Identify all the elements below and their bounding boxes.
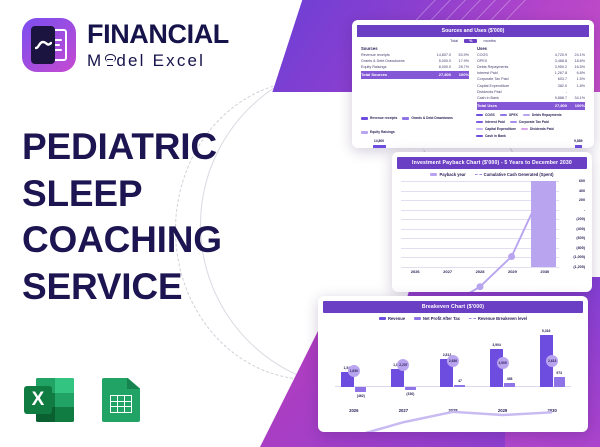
sources-and-uses-card[interactable]: Sources and Uses ($'000) Total % months … (352, 20, 594, 148)
legend-item: Cumulative Cash Generated (Spent) (475, 172, 554, 177)
table-row: Cash in Bank9,888.734.1% (477, 95, 585, 101)
x-tick-label: 2026 (329, 408, 379, 413)
net-profit-bar: (330) (405, 387, 416, 390)
chart-group: 2,813472,636 (428, 327, 478, 405)
bar-value-label: (462) (357, 394, 365, 398)
net-profit-bar: 973 (554, 377, 565, 387)
chart-group: 5,3169732,613 (527, 327, 577, 405)
legend-dashed-marker (475, 173, 482, 176)
legend-label: Cash in Bank (485, 134, 506, 138)
uses-total-value: 27,800 (541, 103, 567, 109)
sources-total-pct: 100% (451, 72, 469, 78)
headline-line-3: COACHING (22, 217, 222, 264)
legend-swatch (361, 117, 368, 120)
y-tick-label: (200) (576, 217, 585, 221)
legend-swatch (476, 114, 483, 117)
bar: 14,800 (373, 145, 386, 148)
headline-line-1: PEDIATRIC (22, 124, 222, 171)
net-profit-bar: 458 (504, 383, 515, 387)
legend-swatch (414, 317, 421, 320)
bar-value-label: (330) (406, 392, 414, 396)
chart-card-icon (31, 26, 55, 64)
chart-group: 1,540(462)1,630 (329, 327, 379, 405)
legend-item: Payback year (430, 172, 465, 177)
sources-column: Sources Revenue receipts14,807.053.9%Gra… (361, 46, 469, 110)
legend-item: Dividends Paid (521, 127, 554, 131)
legend-swatch (430, 173, 437, 176)
sources-header: Sources (361, 46, 469, 51)
legend-swatch (476, 121, 483, 124)
revenue-bar: 1,848 (391, 369, 404, 387)
legend-label: Revenue receipts (370, 116, 397, 120)
x-tick-label: 2029 (478, 408, 528, 413)
supported-apps: X (24, 375, 146, 425)
legend-item: Debts Repayments (523, 113, 562, 117)
sources-total-value: 27,800 (425, 72, 451, 78)
uses-header: Uses (477, 46, 585, 51)
headline-line-2: SLEEP (22, 171, 222, 218)
row-value: 9,888.7 (541, 95, 567, 101)
breakeven-chart-legend: RevenueNet Profit After TaxRevenue Break… (323, 313, 583, 323)
legend-label: Equity Raisings (370, 130, 395, 134)
sources-uses-title: Sources and Uses ($'000) (357, 25, 589, 37)
y-tick-label: (600) (576, 236, 585, 240)
breakeven-node: 1,630 (348, 365, 360, 377)
legend-label: OPEX (509, 113, 518, 117)
row-value: 8,000.0 (425, 64, 451, 70)
legend-item: Net Profit After Tax (414, 316, 460, 321)
breakeven-x-axis-labels: 20262027202820292030 (329, 408, 577, 413)
legend-swatch (500, 114, 507, 117)
payback-chart-title: Investment Payback Chart ($'000) - 5 Yea… (397, 157, 587, 169)
breakeven-chart-card[interactable]: Breakeven Chart ($'000) RevenueNet Profi… (318, 296, 588, 432)
google-sheets-icon (96, 375, 146, 425)
bar-value-label: 973 (556, 371, 562, 375)
net-profit-bar: 47 (454, 385, 465, 387)
legend-swatch (379, 317, 386, 320)
sources-total-label: Total Sources (361, 72, 425, 78)
legend-label: Dividends Paid (530, 127, 554, 131)
legend-label: COGS (485, 113, 495, 117)
legend-item: Interest Paid (476, 120, 505, 124)
legend-item: OPEX (500, 113, 518, 117)
x-tick-label: 2028 (428, 408, 478, 413)
row-label: Cash in Bank (477, 95, 541, 101)
x-tick-label: 2030 (527, 408, 577, 413)
y-tick-label: 200 (579, 198, 585, 202)
brand-subtitle: M del Excel (87, 52, 229, 69)
brand-subtitle-part1: M (87, 52, 103, 69)
sources-bar-chart: 14,8005,0008,000 (361, 140, 469, 148)
legend-swatch (476, 128, 483, 131)
sources-total-row: Total Sources 27,800 100% (361, 71, 469, 79)
legend-item: Revenue receipts (361, 113, 397, 124)
breakeven-node: 2,636 (447, 355, 459, 367)
bar-value-label: 3,904 (492, 343, 501, 347)
y-tick-label: 600 (579, 179, 585, 183)
investment-payback-card[interactable]: Investment Payback Chart ($'000) - 5 Yea… (392, 152, 592, 292)
cumulative-cash-line (401, 181, 559, 292)
legend-label: Interest Paid (485, 120, 505, 124)
y-tick-label: (1,200) (573, 265, 585, 269)
uses-chart-legend: COGSOPEXDebts RepaymentsInterest PaidCor… (476, 113, 585, 138)
bar-value-label: 9,889 (574, 139, 583, 143)
headline-line-4: SERVICE (22, 264, 222, 311)
legend-label: Revenue Breakeven level (478, 316, 527, 321)
sources-chart-legend: Revenue receiptsGrants & Debt DrawdownsE… (361, 113, 470, 138)
legend-item: Equity Raisings (361, 127, 395, 138)
sources-uses-subheader: Total % months (357, 37, 589, 45)
financial-model-logo-icon (22, 18, 76, 72)
row-pct: 28.7% (451, 64, 469, 70)
excel-letter: X (24, 386, 52, 414)
bar: 9,889 (575, 145, 582, 148)
legend-item: Cash in Bank (476, 134, 506, 138)
payback-chart-legend: Payback yearCumulative Cash Generated (S… (397, 169, 587, 179)
breakeven-chart-title: Breakeven Chart ($'000) (323, 301, 583, 313)
uses-column: Uses COGS4,720.924.1%OPEX3,468.818.6%Deb… (477, 46, 585, 110)
brand-subtitle-part2: del Excel (116, 52, 205, 69)
legend-swatch (510, 121, 517, 124)
legend-label: Payback year (439, 172, 465, 177)
legend-swatch (523, 114, 530, 117)
lightbulb-icon (104, 54, 115, 67)
x-tick-label: 2027 (379, 408, 429, 413)
breakeven-plot-area: 1,540(462)1,6301,848(330)2,2072,813472,6… (329, 327, 577, 405)
table-row: Equity Raisings8,000.028.7% (361, 64, 469, 70)
legend-label: Grants & Debt Drawdowns (411, 116, 453, 120)
brand-title: FINANCIAL (87, 21, 229, 48)
payback-y-axis-labels: 600400200-(200)(400)(600)(800)(1,000)(1,… (561, 181, 585, 267)
bar-value-label: 458 (507, 377, 513, 381)
legend-label: Revenue (388, 316, 405, 321)
breakeven-node: 2,505 (497, 357, 509, 369)
payback-plot-area: 600400200-(200)(400)(600)(800)(1,000)(1,… (399, 181, 585, 267)
net-profit-bar: (462) (355, 387, 366, 392)
legend-item: Corporate Tax Paid (510, 120, 549, 124)
y-tick-label: 400 (579, 189, 585, 193)
legend-swatch (476, 135, 483, 138)
legend-item: COGS (476, 113, 495, 117)
legend-item: Grants & Debt Drawdowns (402, 113, 453, 124)
uses-total-label: Total Uses (477, 103, 541, 109)
legend-label: Capital Expenditure (485, 127, 516, 131)
bar-value-label: 47 (458, 379, 462, 383)
breakeven-node: 2,207 (397, 359, 409, 371)
microsoft-excel-icon: X (24, 375, 74, 425)
subheader-months-label: months (483, 39, 495, 43)
legend-item: Revenue (379, 316, 405, 321)
bar-value-label: 5,316 (542, 329, 551, 333)
subheader-pct-pill: % (464, 39, 477, 43)
legend-swatch (402, 117, 409, 120)
legend-label: Net Profit After Tax (423, 316, 460, 321)
subheader-total-label: Total (450, 39, 458, 43)
chart-group: 1,848(330)2,207 (379, 327, 429, 405)
uses-bar-chart: 4,7203,4603,9501,260603382-9,889 (477, 140, 585, 148)
row-pct: 34.1% (567, 95, 585, 101)
brand-lockup: FINANCIAL M del Excel (22, 18, 229, 72)
legend-label: Cumulative Cash Generated (Spent) (484, 172, 554, 177)
uses-total-pct: 100% (567, 103, 585, 109)
row-label: Equity Raisings (361, 64, 425, 70)
bar-value-label: 14,800 (374, 139, 384, 143)
breakeven-node: 2,613 (546, 355, 558, 367)
chart-group: 3,9044582,505 (478, 327, 528, 405)
page-title: PEDIATRIC SLEEP COACHING SERVICE (22, 124, 222, 310)
legend-dashed-marker (469, 317, 476, 320)
y-tick-label: (1,000) (573, 255, 585, 259)
uses-total-row: Total Uses 27,800 100% (477, 102, 585, 110)
legend-swatch (361, 131, 368, 134)
legend-item: Revenue Breakeven level (469, 316, 527, 321)
legend-item: Capital Expenditure (476, 127, 516, 131)
legend-label: Debts Repayments (532, 113, 562, 117)
y-tick-label: (800) (576, 246, 585, 250)
y-tick-label: (400) (576, 227, 585, 231)
y-tick-label: - (584, 208, 585, 212)
legend-label: Corporate Tax Paid (519, 120, 549, 124)
legend-swatch (521, 128, 528, 131)
